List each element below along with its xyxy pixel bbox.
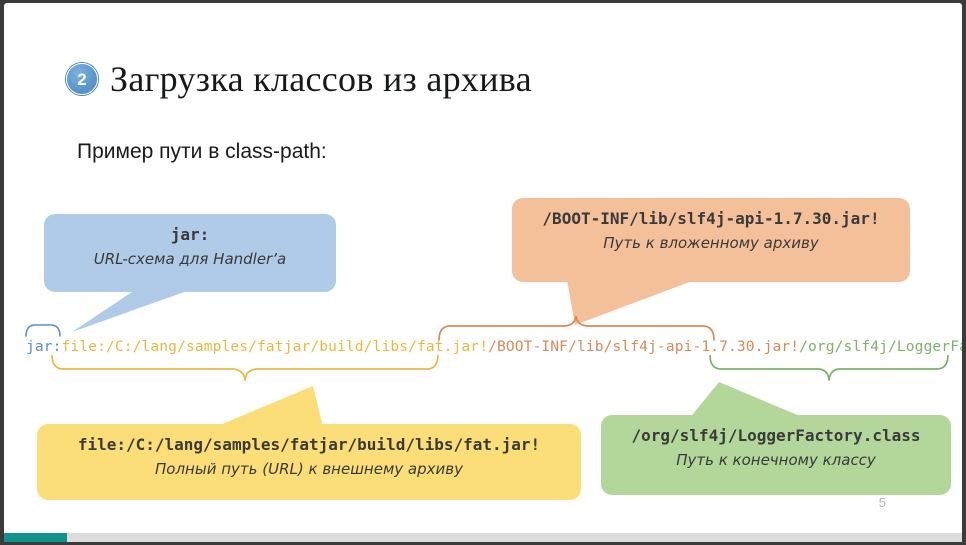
subtitle: Пример пути в class-path:: [77, 140, 327, 164]
callout-nested-archive: /BOOT-INF/lib/slf4j-api-1.7.30.jar! Путь…: [512, 198, 910, 282]
callout-class-path-tail: [689, 382, 809, 418]
callout-class-path-code: /org/slf4j/LoggerFactory.class: [617, 425, 935, 447]
path-segment-scheme: jar:: [26, 338, 62, 355]
callout-outer-archive-code: file:/C:/lang/samples/fatjar/build/libs/…: [53, 434, 565, 456]
slide-frame: 2 Загрузка классов из архива Пример пути…: [0, 0, 966, 545]
callout-jar-tail: [72, 290, 192, 332]
slide-canvas: 2 Загрузка классов из архива Пример пути…: [4, 3, 962, 536]
callout-outer-archive-description: Полный путь (URL) к внешнему архиву: [53, 459, 565, 481]
callout-jar-scheme: jar: URL-схема для Handler’a: [44, 214, 336, 292]
path-segment-nested-archive: /BOOT-INF/lib/slf4j-api-1.7.30.jar!: [488, 338, 799, 355]
brace-outer-archive: [51, 355, 439, 381]
path-segment-class-path: /org/slf4j/LoggerFactory.class: [799, 338, 962, 355]
step-number-badge: 2: [66, 63, 98, 95]
brace-class-path: [709, 355, 949, 381]
callout-class-path: /org/slf4j/LoggerFactory.class Путь к ко…: [601, 415, 951, 495]
callout-jar-code: jar:: [60, 224, 320, 246]
callout-outer-archive-tail: [215, 386, 325, 426]
class-path-string: jar:file:/C:/lang/samples/fatjar/build/l…: [26, 340, 962, 355]
slide-progress-track: [4, 533, 962, 542]
path-segment-outer-archive: file:/C:/lang/samples/fatjar/build/libs/…: [62, 338, 489, 355]
slide-heading: 2 Загрузка классов из архива: [66, 58, 532, 100]
callout-class-path-description: Путь к конечному классу: [617, 450, 935, 472]
callout-outer-archive: file:/C:/lang/samples/fatjar/build/libs/…: [37, 424, 581, 500]
callout-nested-archive-description: Путь к вложенному архиву: [528, 233, 894, 255]
callout-jar-description: URL-схема для Handler’a: [60, 249, 320, 271]
callout-nested-archive-code: /BOOT-INF/lib/slf4j-api-1.7.30.jar!: [528, 208, 894, 230]
slide-progress-fill: [4, 533, 67, 542]
page-title: Загрузка классов из архива: [110, 58, 532, 100]
page-number: 5: [879, 495, 886, 510]
brace-scheme: [25, 323, 61, 337]
